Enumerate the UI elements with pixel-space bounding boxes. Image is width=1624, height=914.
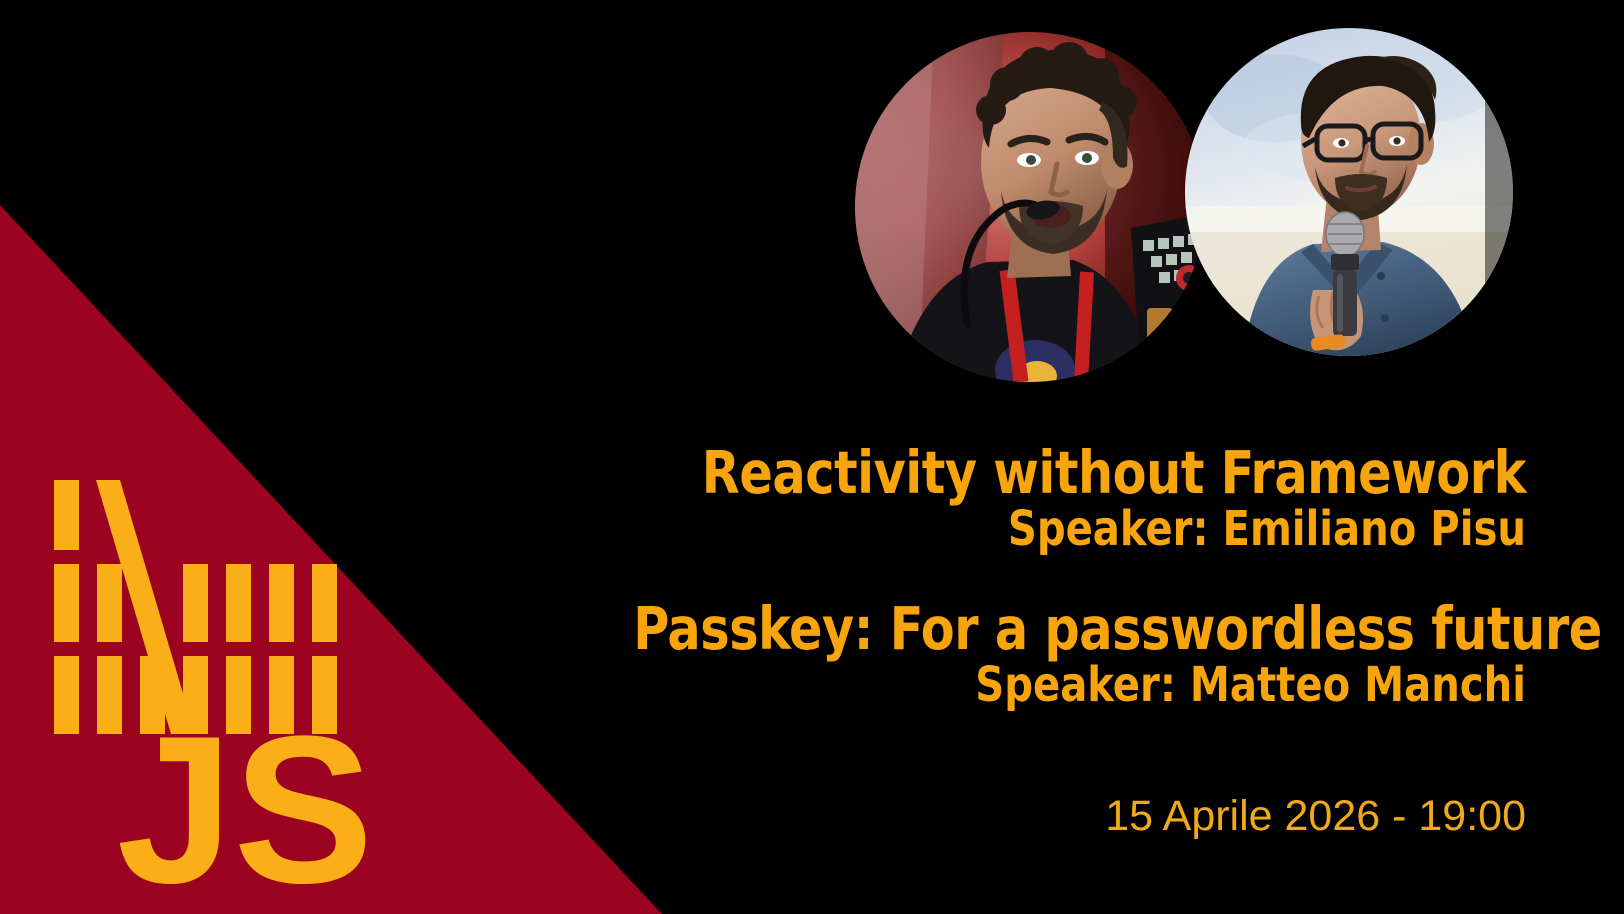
speaker-photo-matteo-manchi [1185,28,1513,356]
talk-entry: Passkey: For a passwordless future Speak… [566,599,1526,713]
talk-title: Reactivity without Framework [633,443,1526,503]
event-poster: JS [0,0,1624,914]
talk-speaker: Speaker: Matteo Manchi [633,659,1526,713]
logo-js-wordmark: JS [117,692,374,892]
talks-list: Reactivity without Framework Speaker: Em… [566,443,1526,713]
talk-entry: Reactivity without Framework Speaker: Em… [566,443,1526,557]
nodejs-barcode-logo: JS [40,472,440,892]
speaker-photo-emiliano-pisu [855,32,1205,382]
talk-title: Passkey: For a passwordless future [633,599,1526,659]
talk-speaker: Speaker: Emiliano Pisu [633,503,1526,557]
event-datetime: 15 Aprile 2026 - 19:00 [626,793,1526,840]
